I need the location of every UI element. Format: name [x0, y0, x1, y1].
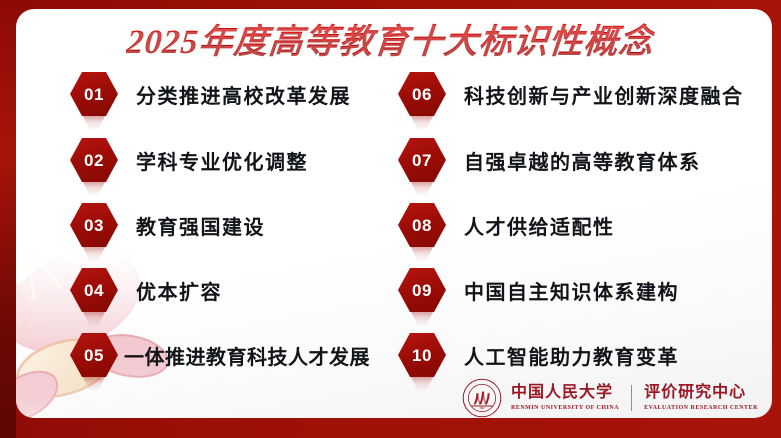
hexagon-badge-icon: 10: [398, 333, 446, 377]
concept-label: 人才供给适配性: [464, 211, 615, 240]
concept-badge: 10: [398, 333, 446, 377]
hexagon-badge-icon: 03: [70, 203, 118, 247]
list-item[interactable]: 06 科技创新与产业创新深度融合: [398, 72, 744, 116]
concept-list: 01 分类推进高校改革发展 02 学科专业优化调整: [16, 66, 772, 376]
logo-center-en: EVALUATION RESEARCH CENTER: [644, 404, 758, 412]
concept-number: 01: [84, 86, 104, 103]
concept-number: 10: [412, 347, 432, 364]
concept-badge: 05: [70, 333, 118, 377]
poster-title: 2025年度高等教育十大标识性概念: [16, 14, 772, 63]
badge-reflection: [404, 246, 440, 262]
concept-label: 一体推进教育科技人才发展: [124, 341, 370, 370]
logo-university-en: RENMIN UNIVERSITY OF CHINA: [511, 404, 619, 412]
concept-badge: 07: [398, 138, 446, 182]
badge-reflection: [76, 311, 112, 327]
list-item[interactable]: 01 分类推进高校改革发展: [70, 72, 351, 116]
concept-number: 06: [412, 86, 432, 103]
concept-badge: 01: [70, 72, 118, 116]
hexagon-badge-icon: 01: [70, 72, 118, 116]
list-item[interactable]: 04 优本扩容: [70, 268, 222, 312]
concept-number: 02: [84, 152, 104, 169]
list-item[interactable]: 02 学科专业优化调整: [70, 138, 308, 182]
badge-reflection: [404, 115, 440, 131]
svg-text:1937: 1937: [479, 407, 485, 410]
concept-badge: 09: [398, 268, 446, 312]
badge-reflection: [76, 376, 112, 392]
logo-university-text: 中国人民大学 RENMIN UNIVERSITY OF CHINA: [511, 384, 619, 412]
badge-reflection: [76, 246, 112, 262]
concept-badge: 08: [398, 203, 446, 247]
renmin-university-seal-icon: 1937: [462, 378, 502, 418]
hexagon-badge-icon: 05: [70, 333, 118, 377]
hexagon-badge-icon: 08: [398, 203, 446, 247]
concept-label: 中国自主知识体系建构: [464, 276, 679, 305]
logo-center-cn: 评价研究中心: [644, 384, 758, 402]
list-item[interactable]: 03 教育强国建设: [70, 203, 265, 247]
concept-badge: 03: [70, 203, 118, 247]
concept-badge: 04: [70, 268, 118, 312]
concept-label: 科技创新与产业创新深度融合: [464, 80, 744, 109]
concept-number: 08: [412, 217, 432, 234]
hexagon-badge-icon: 09: [398, 268, 446, 312]
poster-inner-panel: 2025年度高等教育十大标识性概念 01 分类推进高校改革发展: [16, 9, 772, 418]
hexagon-badge-icon: 02: [70, 138, 118, 182]
concept-label: 分类推进高校改革发展: [136, 80, 351, 109]
list-item[interactable]: 09 中国自主知识体系建构: [398, 268, 679, 312]
concept-label: 自强卓越的高等教育体系: [464, 146, 701, 175]
poster-title-text: 2025年度高等教育十大标识性概念: [125, 14, 656, 63]
logo-center-text: 评价研究中心 EVALUATION RESEARCH CENTER: [644, 384, 758, 412]
organization-logo: 1937 中国人民大学 RENMIN UNIVERSITY OF CHINA 评…: [462, 378, 758, 418]
concept-number: 04: [84, 282, 104, 299]
concept-badge: 06: [398, 72, 446, 116]
hexagon-badge-icon: 06: [398, 72, 446, 116]
concept-badge: 02: [70, 138, 118, 182]
concept-number: 07: [412, 152, 432, 169]
list-item[interactable]: 07 自强卓越的高等教育体系: [398, 138, 701, 182]
concept-label: 人工智能助力教育变革: [464, 341, 679, 370]
poster-root: 2025年度高等教育十大标识性概念 01 分类推进高校改革发展: [0, 0, 781, 438]
list-item[interactable]: 08 人才供给适配性: [398, 203, 615, 247]
list-item[interactable]: 10 人工智能助力教育变革: [398, 333, 679, 377]
logo-divider: [631, 385, 632, 411]
badge-reflection: [404, 181, 440, 197]
concept-label: 学科专业优化调整: [136, 146, 308, 175]
concept-number: 09: [412, 282, 432, 299]
concept-column-left: 01 分类推进高校改革发展 02 学科专业优化调整: [16, 66, 390, 376]
concept-label: 教育强国建设: [136, 211, 265, 240]
logo-university-cn: 中国人民大学: [511, 384, 619, 402]
frame-left-accent: [0, 0, 16, 438]
concept-number: 05: [84, 347, 104, 364]
badge-reflection: [76, 181, 112, 197]
badge-reflection: [76, 115, 112, 131]
badge-reflection: [404, 376, 440, 392]
hexagon-badge-icon: 04: [70, 268, 118, 312]
concept-label: 优本扩容: [136, 276, 222, 305]
concept-number: 03: [84, 217, 104, 234]
concept-column-right: 06 科技创新与产业创新深度融合 07 自强卓越的高等教育体系: [390, 66, 772, 376]
hexagon-badge-icon: 07: [398, 138, 446, 182]
badge-reflection: [404, 311, 440, 327]
list-item[interactable]: 05 一体推进教育科技人才发展: [70, 333, 370, 377]
